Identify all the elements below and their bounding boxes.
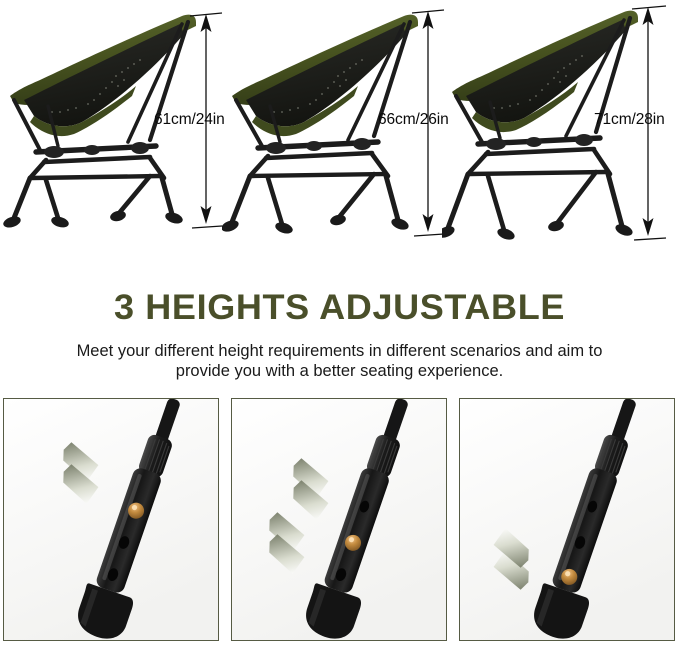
subtitle-line-2: provide you with a better seating experi… (18, 361, 661, 381)
leg-low-photo (460, 399, 674, 640)
page-subtitle: Meet your different height requirements … (18, 341, 661, 381)
chair-comparison-row: 61cm/24in (0, 0, 679, 278)
leg-detail-panel-row (0, 398, 679, 646)
subtitle-line-1: Meet your different height requirements … (77, 342, 603, 360)
chair-figure-low: 61cm/24in (0, 0, 232, 278)
chair-high-height-label: 71cm/28in (594, 111, 665, 129)
leg-detail-panel-mid (231, 398, 447, 641)
page-title: 3 HEIGHTS ADJUSTABLE (0, 288, 679, 328)
leg-mid-photo (232, 399, 446, 640)
leg-detail-panel-high (3, 398, 219, 641)
leg-high-photo (4, 399, 218, 640)
leg-detail-panel-low (459, 398, 675, 641)
chair-figure-high: 71cm/28in (442, 0, 679, 278)
chair-low-height-label: 61cm/24in (154, 111, 225, 129)
chair-mid-height-label: 66cm/26in (378, 111, 449, 129)
chair-figure-mid: 66cm/26in (222, 0, 454, 278)
